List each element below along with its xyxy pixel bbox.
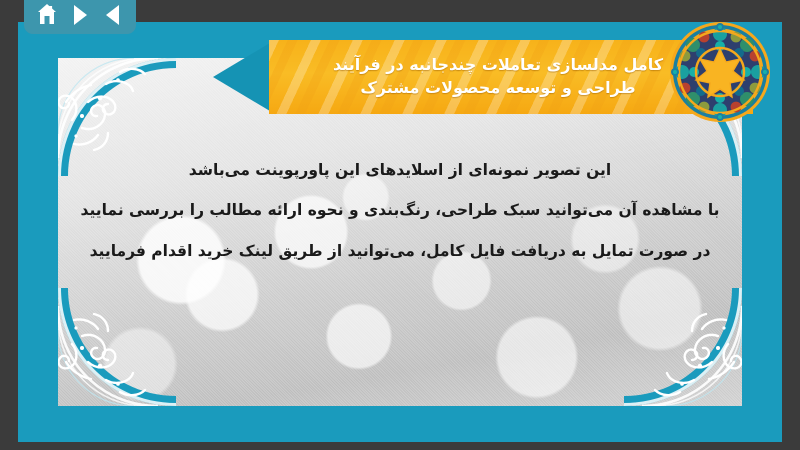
forward-button[interactable] bbox=[66, 1, 94, 29]
body-line-2: با مشاهده آن می‌توانید سبک طراحی، رنگ‌بن… bbox=[78, 190, 722, 230]
slide-viewer: این تصویر نمونه‌ای از اسلایدهای این پاور… bbox=[0, 0, 800, 450]
back-button[interactable] bbox=[99, 1, 127, 29]
slide-title-line-1: کامل مدلسازی تعاملات چندجانبه در فرآیند bbox=[333, 54, 663, 77]
home-icon bbox=[35, 3, 59, 27]
banner-arrow-left-icon bbox=[213, 40, 275, 114]
slide-title-line-2: طراحی و توسعه محصولات مشترک bbox=[360, 77, 635, 100]
slide-body-text: این تصویر نمونه‌ای از اسلایدهای این پاور… bbox=[78, 150, 722, 271]
body-line-1: این تصویر نمونه‌ای از اسلایدهای این پاور… bbox=[78, 150, 722, 190]
body-line-3: در صورت تمایل به دریافت فایل کامل، می‌تو… bbox=[78, 231, 722, 271]
triangle-left-icon bbox=[103, 4, 123, 26]
triangle-right-icon bbox=[70, 4, 90, 26]
persian-medallion-ornament bbox=[666, 22, 774, 126]
home-button[interactable] bbox=[33, 1, 61, 29]
navigation-toolbar bbox=[24, 0, 136, 34]
slide-canvas: این تصویر نمونه‌ای از اسلایدهای این پاور… bbox=[18, 22, 782, 442]
